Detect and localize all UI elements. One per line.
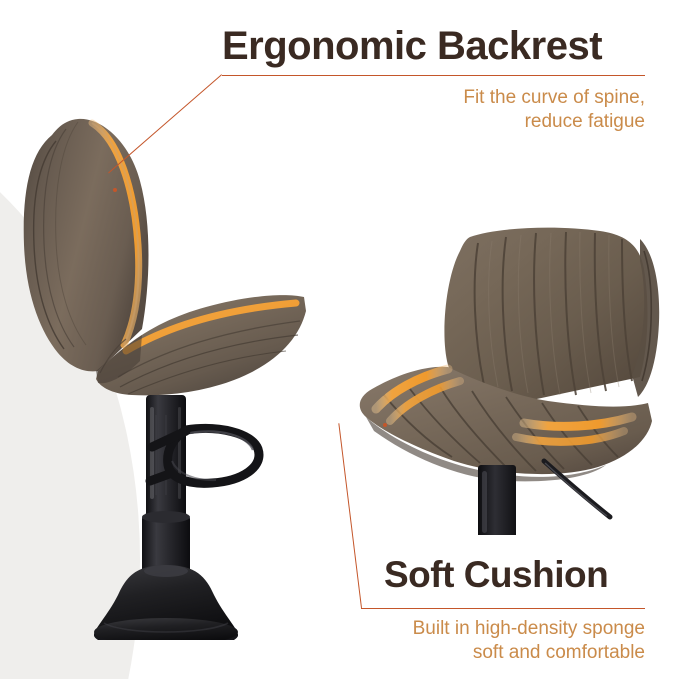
callout-top-subtext-line1: Fit the curve of spine, bbox=[463, 86, 645, 110]
product-stool-seat-view bbox=[348, 225, 679, 535]
callout-top-subtext-line2: reduce fatigue bbox=[463, 110, 645, 134]
callout-top-rule bbox=[222, 75, 645, 76]
callout-top-headline: Ergonomic Backrest bbox=[222, 26, 602, 66]
footrest-ring bbox=[150, 429, 259, 484]
callout-bottom-headline: Soft Cushion bbox=[384, 556, 608, 593]
callout-top-anchor-dot bbox=[113, 188, 117, 192]
round-base bbox=[94, 565, 238, 640]
callout-bottom-rule bbox=[361, 608, 645, 609]
product-stool-side-view bbox=[0, 95, 310, 640]
infographic-canvas: Ergonomic Backrest Fit the curve of spin… bbox=[0, 0, 679, 679]
callout-bottom-subtext: Built in high-density sponge soft and co… bbox=[413, 617, 645, 666]
callout-bottom-anchor-dot bbox=[383, 423, 387, 427]
callout-bottom-subtext-line1: Built in high-density sponge bbox=[413, 617, 645, 641]
callout-top-subtext: Fit the curve of spine, reduce fatigue bbox=[463, 86, 645, 135]
callout-bottom-subtext-line2: soft and comfortable bbox=[413, 641, 645, 665]
